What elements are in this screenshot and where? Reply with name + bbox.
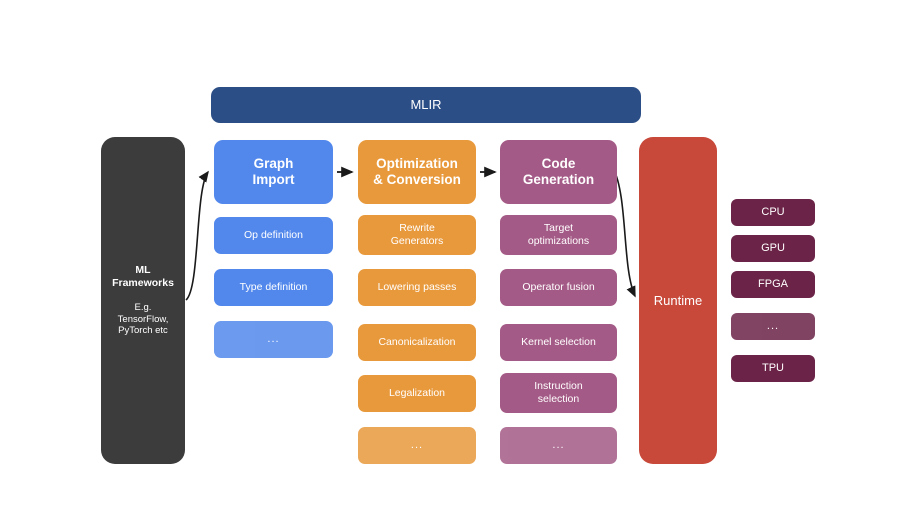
ml-frameworks-title: ML Frameworks	[107, 264, 179, 290]
hardware-target-gpu[interactable]: GPU	[731, 235, 815, 262]
graph-import-item-ellipsis[interactable]: ...	[214, 321, 333, 358]
hardware-target-cpu[interactable]: CPU	[731, 199, 815, 226]
graph-import-header-line2: Import	[253, 172, 295, 188]
ml-frameworks-subtitle-line1: E.g.	[135, 302, 152, 314]
ml-frameworks-subtitle-line2: TensorFlow,	[118, 314, 169, 326]
optimization-header-line2: & Conversion	[373, 172, 461, 188]
target-optimizations-line1: Target	[528, 222, 589, 235]
optimization-item-ellipsis[interactable]: ...	[358, 427, 476, 464]
optimization-item-canonicalization[interactable]: Canonicalization	[358, 324, 476, 361]
hardware-target-ellipsis[interactable]: ...	[731, 313, 815, 340]
runtime-box: Runtime	[639, 137, 717, 464]
arrow-frameworks-to-graph-import	[186, 172, 208, 300]
rewrite-generators-line1: Rewrite	[391, 222, 444, 235]
rewrite-generators-line2: Generators	[391, 235, 444, 248]
instruction-selection-line2: selection	[534, 393, 582, 406]
code-generation-header-line2: Generation	[523, 172, 594, 188]
optimization-item-rewrite-generators[interactable]: Rewrite Generators	[358, 215, 476, 255]
code-generation-item-ellipsis[interactable]: ...	[500, 427, 617, 464]
column-header-optimization-conversion[interactable]: Optimization & Conversion	[358, 140, 476, 204]
hardware-target-tpu[interactable]: TPU	[731, 355, 815, 382]
code-generation-item-kernel-selection[interactable]: Kernel selection	[500, 324, 617, 361]
optimization-header-line1: Optimization	[373, 156, 461, 172]
graph-import-header-line1: Graph	[253, 156, 295, 172]
graph-import-item-op-definition[interactable]: Op definition	[214, 217, 333, 254]
code-generation-item-instruction-selection[interactable]: Instruction selection	[500, 373, 617, 413]
ml-frameworks-box: ML Frameworks E.g. TensorFlow, PyTorch e…	[101, 137, 185, 464]
optimization-item-legalization[interactable]: Legalization	[358, 375, 476, 412]
column-header-graph-import[interactable]: Graph Import	[214, 140, 333, 204]
optimization-item-lowering-passes[interactable]: Lowering passes	[358, 269, 476, 306]
hardware-target-fpga[interactable]: FPGA	[731, 271, 815, 298]
code-generation-item-target-optimizations[interactable]: Target optimizations	[500, 215, 617, 255]
ml-frameworks-subtitle-line3: PyTorch etc	[118, 325, 168, 337]
target-optimizations-line2: optimizations	[528, 235, 589, 248]
diagram-canvas: MLIR ML Frameworks E.g. TensorFlow, PyTo…	[0, 0, 900, 505]
code-generation-item-operator-fusion[interactable]: Operator fusion	[500, 269, 617, 306]
code-generation-header-line1: Code	[523, 156, 594, 172]
mlir-banner: MLIR	[211, 87, 641, 123]
graph-import-item-type-definition[interactable]: Type definition	[214, 269, 333, 306]
instruction-selection-line1: Instruction	[534, 380, 582, 393]
column-header-code-generation[interactable]: Code Generation	[500, 140, 617, 204]
